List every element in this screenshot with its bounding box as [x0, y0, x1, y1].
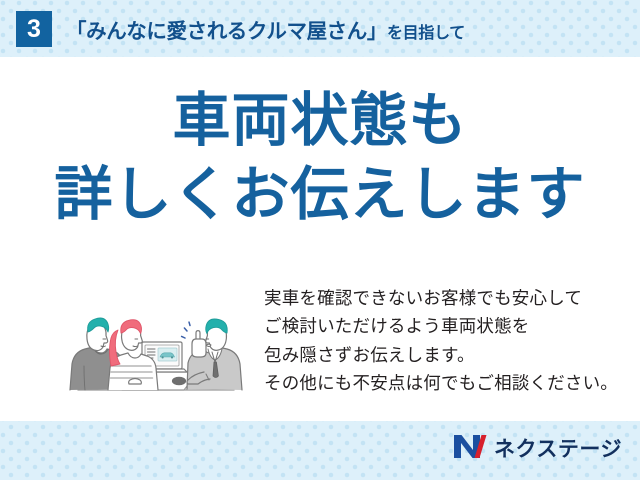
nexstage-n-mark-icon: [453, 434, 487, 464]
headline-line-2: 詳しくお伝えします: [0, 166, 640, 224]
header-band: 3 「みんなに愛されるクルマ屋さん」 を目指して: [0, 0, 640, 57]
consultation-illustration: [56, 286, 256, 409]
header-title: 「みんなに愛されるクルマ屋さん」 を目指して: [66, 14, 465, 44]
headline-line-1: 車両状態も: [0, 92, 640, 150]
brand-logo-text: ネクステージ: [494, 439, 622, 460]
footer-band: ネクステージ: [0, 421, 640, 480]
body-line-1: 実車を確認できないお客様でも安心して: [264, 284, 618, 312]
body-copy: 実車を確認できないお客様でも安心して ご検討いただけるよう車両状態を 包み隠さず…: [264, 284, 618, 397]
body-line-2: ご検討いただけるよう車両状態を: [264, 312, 618, 340]
headline: 車両状態も 詳しくお伝えします: [0, 92, 640, 224]
advertisement-banner: 3 「みんなに愛されるクルマ屋さん」 を目指して 車両状態も 詳しくお伝えします: [0, 0, 640, 480]
step-number-badge: 3: [16, 11, 52, 47]
lower-section: 実車を確認できないお客様でも安心して ご検討いただけるよう車両状態を 包み隠さず…: [0, 282, 640, 417]
body-line-3: 包み隠さずお伝えします。: [264, 341, 618, 369]
brand-logo: ネクステージ: [453, 434, 622, 464]
header-title-main: 「みんなに愛されるクルマ屋さん」: [66, 14, 387, 44]
header-title-suffix: を目指して: [387, 19, 465, 43]
content-card: 車両状態も 詳しくお伝えします: [0, 57, 640, 421]
body-line-4: その他にも不安点は何でもご相談ください。: [264, 369, 618, 397]
